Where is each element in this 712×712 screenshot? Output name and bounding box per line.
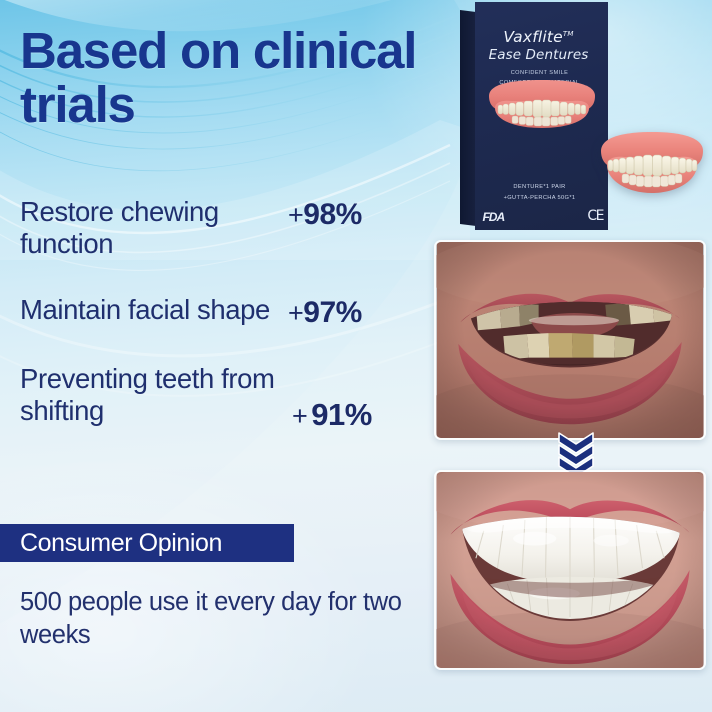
benefit-plus-sign: + bbox=[288, 200, 303, 230]
denture-illustration-on-box bbox=[481, 80, 603, 152]
benefits-list: Restore chewing function +98% Maintain f… bbox=[20, 196, 420, 433]
benefit-row: Preventing teeth from shifting +91% bbox=[20, 363, 420, 433]
benefit-value: 91% bbox=[311, 397, 372, 432]
benefit-label: Maintain facial shape bbox=[20, 294, 282, 326]
benefit-percentage: +98% bbox=[282, 196, 420, 232]
before-photo bbox=[434, 240, 706, 440]
benefit-value: 97% bbox=[303, 296, 362, 329]
product-contents-line-1: DENTURE*1 PAIR bbox=[475, 182, 604, 193]
fda-logo-icon: FDA bbox=[482, 212, 504, 224]
product-box: VaxfliteTM Ease Dentures CONFIDENT SMILE… bbox=[460, 2, 608, 230]
background-glow-bottom-left bbox=[0, 452, 380, 712]
after-photo bbox=[434, 470, 706, 670]
benefit-percentage: +91% bbox=[282, 363, 420, 433]
advertisement-poster: Based on clinical trials Restore chewing… bbox=[0, 0, 712, 712]
benefit-plus-sign: + bbox=[288, 298, 303, 328]
product-brand-name: VaxfliteTM bbox=[475, 28, 602, 46]
product-contents-line-2: +GUTTA-PERCHA 50G*1 bbox=[475, 193, 604, 204]
benefit-plus-sign: + bbox=[292, 401, 307, 431]
benefit-value: 98% bbox=[303, 198, 362, 231]
benefit-label: Restore chewing function bbox=[20, 196, 282, 261]
product-subtitle: Ease Dentures bbox=[475, 47, 602, 63]
benefit-percentage: +97% bbox=[282, 294, 420, 330]
product-box-side-panel bbox=[460, 10, 476, 226]
product-box-front-panel: VaxfliteTM Ease Dentures CONFIDENT SMILE… bbox=[475, 2, 608, 230]
benefit-label: Preventing teeth from shifting bbox=[20, 363, 282, 428]
product-tagline-line-1: CONFIDENT SMILE bbox=[475, 68, 604, 78]
trademark-symbol: TM bbox=[563, 30, 574, 38]
benefit-row: Restore chewing function +98% bbox=[20, 196, 420, 261]
consumer-opinion-text: 500 people use it every day for two week… bbox=[20, 586, 420, 651]
benefit-row: Maintain facial shape +97% bbox=[20, 294, 420, 330]
product-contents: DENTURE*1 PAIR +GUTTA-PERCHA 50G*1 bbox=[475, 182, 604, 204]
consumer-opinion-banner: Consumer Opinion bbox=[0, 524, 294, 562]
consumer-opinion-title: Consumer Opinion bbox=[20, 529, 222, 558]
page-title: Based on clinical trials bbox=[20, 24, 460, 132]
denture-product-photo bbox=[596, 131, 708, 217]
